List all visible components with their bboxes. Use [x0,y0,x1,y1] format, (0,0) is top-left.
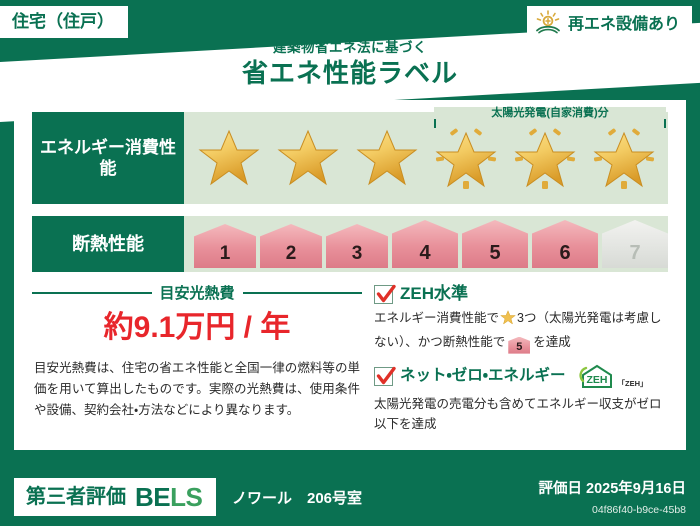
insulation-grade-5: 5 [462,220,528,268]
insulation-grade-list: 1 2 3 4 5 [184,220,668,268]
sun-icon [535,10,561,39]
grade-number: 4 [419,242,430,265]
star-filled [192,122,266,194]
bels-ls: LS [170,482,202,512]
svg-text:ZEH: ZEH [586,374,607,386]
utility-cost-heading-text: 目安光熱費 [160,282,235,303]
grade-badge-icon: 5 [508,337,530,354]
insulation-grade-2: 2 [260,224,322,268]
grade-number: 7 [629,242,640,265]
insulation-grades-area: 1 2 3 4 5 [184,216,668,272]
zeh-logo-icon: ZEH 「ZEH」 [578,364,648,390]
utility-cost-panel: 目安光熱費 約9.1万円 / 年 目安光熱費は、住宅の省エネ性能と全国一律の燃料… [32,282,362,437]
evaluation-date: 評価日 2025年9月16日 [539,481,686,498]
bels-label-jp: 第三者評価 [26,486,126,508]
certification-header: ネット・ゼロ・エネルギー ZEH 「ZEH」 [374,364,668,390]
heading-rule-right [243,292,363,294]
certification-zeh-level: ZEH水準 エネルギー消費性能で3つ（太陽光発電は考慮しない）、かつ断熱性能で5… [374,284,668,354]
grade-badge-number: 5 [516,341,522,353]
star-rating [184,122,661,194]
star-filled-solar [508,122,582,194]
desc-part-3: を達成 [533,335,571,349]
checkmark-icon [374,367,393,386]
building-type-tab: 住宅（住戸） [0,6,128,38]
energy-stars-area: 太陽光発電(自家消費)分 [184,112,668,204]
insulation-grade-7: 7 [602,220,668,268]
energy-performance-label: エネルギー消費性能 [32,112,184,204]
insulation-grade-4: 4 [392,220,458,268]
insulation-grade-3: 3 [326,224,388,268]
star-filled-solar [429,122,503,194]
insulation-performance-label: 断熱性能 [32,216,184,272]
heading-rule-left [32,292,152,294]
bels-logo: 第三者評価 BELS [14,478,216,516]
utility-cost-note: 目安光熱費は、住宅の省エネ性能と全国一律の燃料等の単価を用いて算出したものです。… [32,358,362,422]
lower-section: 目安光熱費 約9.1万円 / 年 目安光熱費は、住宅の省エネ性能と全国一律の燃料… [32,282,668,437]
bels-label-en: BELS [135,484,202,510]
star-filled [350,122,424,194]
grade-number: 1 [220,243,231,265]
certification-description: エネルギー消費性能で3つ（太陽光発電は考慮しない）、かつ断熱性能で5を達成 [374,308,668,353]
renewable-energy-badge: 再エネ設備あり [527,6,692,43]
certification-panel: ZEH水準 エネルギー消費性能で3つ（太陽光発電は考慮しない）、かつ断熱性能で5… [362,282,668,437]
checkmark-icon [374,285,393,304]
energy-performance-label: 住宅（住戸） 再エネ設備あり 建築物省エネ法に基づく 省エネ性能ラベル [0,0,700,526]
grade-number: 5 [489,242,500,265]
utility-cost-value: 約9.1万円 / 年 [32,311,362,346]
property-name: ノワール 206号室 [232,490,362,508]
insulation-performance-row: 断熱性能 1 2 3 [32,216,668,272]
renewable-badge-label: 再エネ設備あり [568,16,680,34]
insulation-grade-6: 6 [532,220,598,268]
utility-cost-heading: 目安光熱費 [32,282,362,303]
energy-performance-row: エネルギー消費性能 太陽光発電(自家消費)分 [32,112,668,204]
grade-number: 6 [559,242,570,265]
evaluation-id: 04f86f40-b9ce-45b8 [592,504,686,517]
bels-be: BE [135,482,170,512]
star-filled [271,122,345,194]
main-card: エネルギー消費性能 太陽光発電(自家消費)分 [14,100,686,450]
desc-part-1: エネルギー消費性能で [374,311,499,325]
insulation-grade-1: 1 [194,224,256,268]
star-icon [500,310,516,331]
certification-header: ZEH水準 [374,284,668,304]
certification-description: 太陽光発電の売電分も含めてエネルギー収支がゼロ以下を達成 [374,394,668,435]
star-filled-solar [587,122,661,194]
certification-title: ZEH水準 [400,284,468,304]
certification-net-zero-energy: ネット・ゼロ・エネルギー ZEH 「ZEH」 太陽光発電の売電分も含めてエネルギ… [374,364,668,435]
solar-bracket-label: 太陽光発電(自家消費)分 [434,107,666,119]
zeh-logo-caption: 「ZEH」 [618,380,648,390]
grade-number: 3 [352,243,363,265]
grade-number: 2 [286,243,297,265]
certification-title: ネット・ゼロ・エネルギー [400,367,566,386]
